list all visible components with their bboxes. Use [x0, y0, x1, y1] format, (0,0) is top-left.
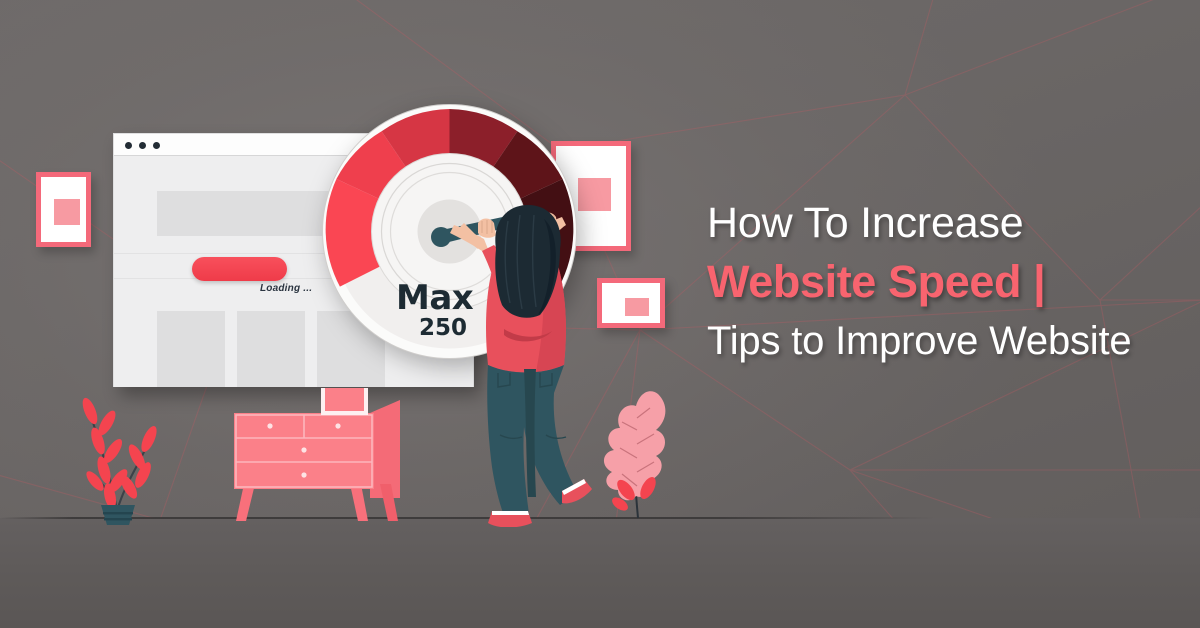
dresser-furniture — [222, 388, 412, 523]
headline-line-1: How To Increase — [707, 196, 1177, 251]
loading-label: Loading ... — [260, 283, 312, 294]
floor — [0, 518, 1200, 628]
headline-block: How To Increase Website Speed | Tips to … — [707, 196, 1177, 369]
person-illustration — [448, 197, 618, 527]
loading-progress-bar — [192, 257, 287, 281]
headline-line-2: Website Speed | — [707, 251, 1177, 313]
window-dot-minimize-icon — [139, 142, 146, 149]
headline-line-3: Tips to Improve Website — [707, 313, 1177, 369]
plant-pot — [101, 505, 135, 525]
potted-plant-left — [55, 315, 185, 525]
wall-frame-right-wide-inner — [625, 298, 649, 316]
wall-frame-left — [36, 172, 91, 247]
window-dot-close-icon — [125, 142, 132, 149]
dresser-photo-frame — [321, 388, 368, 415]
speed-banner: Loading ... — [0, 0, 1200, 628]
wall-frame-left-inner — [54, 199, 80, 225]
content-placeholder-block-2 — [237, 311, 305, 387]
window-dot-maximize-icon — [153, 142, 160, 149]
